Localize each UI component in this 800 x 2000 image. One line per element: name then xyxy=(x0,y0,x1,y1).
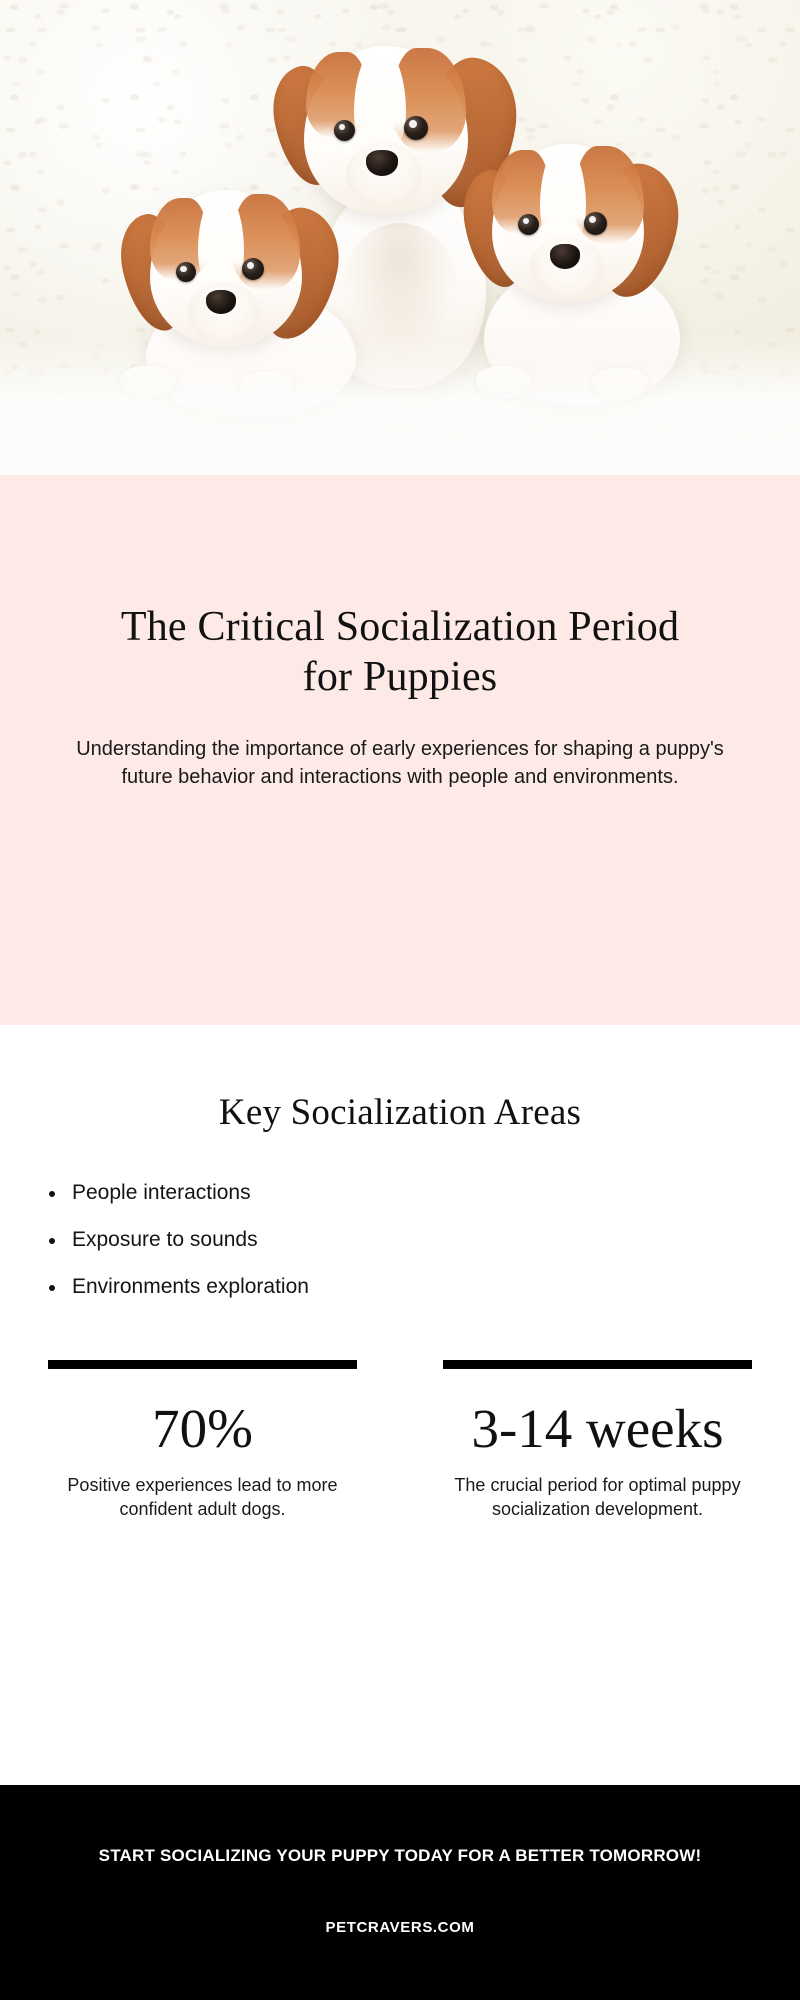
page-title-line-1: The Critical Socialization Period xyxy=(121,604,679,650)
puppy-right-eye-right xyxy=(584,212,607,235)
title-section: The Critical Socialization Period for Pu… xyxy=(0,475,800,1025)
puppy-right-head xyxy=(492,144,644,302)
list-item: Environments exploration xyxy=(72,1276,800,1297)
stat-description: The crucial period for optimal puppy soc… xyxy=(443,1474,752,1522)
list-item-label: Environments exploration xyxy=(72,1275,309,1298)
socialization-areas-list: People interactions Exposure to sounds E… xyxy=(0,1182,800,1297)
bullet-icon xyxy=(49,1285,55,1291)
page-title-line-2: for Puppies xyxy=(303,654,498,700)
infographic-page: The Critical Socialization Period for Pu… xyxy=(0,0,800,2000)
hero-photo xyxy=(0,0,800,475)
stat-description: Positive experiences lead to more confid… xyxy=(48,1474,357,1522)
list-item-label: People interactions xyxy=(72,1181,251,1204)
stat-value: 3-14 weeks xyxy=(443,1399,752,1458)
stat-card-1: 70% Positive experiences lead to more co… xyxy=(48,1360,357,1522)
page-title: The Critical Socialization Period for Pu… xyxy=(121,603,679,702)
puppy-center-eye-right xyxy=(404,116,428,140)
puppy-left-blaze xyxy=(198,190,244,292)
section-heading: Key Socialization Areas xyxy=(0,1091,800,1134)
stat-value: 70% xyxy=(48,1399,357,1458)
puppy-left-eye-right xyxy=(242,258,264,280)
list-item: Exposure to sounds xyxy=(72,1229,800,1250)
list-item-label: Exposure to sounds xyxy=(72,1228,258,1251)
stats-row: 70% Positive experiences lead to more co… xyxy=(0,1360,800,1522)
puppy-right-blaze xyxy=(540,144,586,248)
stat-divider xyxy=(48,1360,357,1369)
puppy-left-eye-left xyxy=(176,262,196,282)
website-url[interactable]: PETCRAVERS.COM xyxy=(326,1919,475,1936)
puppy-right-eye-left xyxy=(518,214,539,235)
footer-section: START SOCIALIZING YOUR PUPPY TODAY FOR A… xyxy=(0,1785,800,2000)
bullet-icon xyxy=(49,1238,55,1244)
hero-foreground-blanket xyxy=(0,335,800,475)
call-to-action-text: START SOCIALIZING YOUR PUPPY TODAY FOR A… xyxy=(99,1843,702,1869)
puppy-center-blaze xyxy=(354,46,406,156)
content-section: Key Socialization Areas People interacti… xyxy=(0,1025,800,1785)
puppy-center-eye-left xyxy=(334,120,355,141)
stat-divider xyxy=(443,1360,752,1369)
puppy-left-head xyxy=(150,190,302,346)
list-item: People interactions xyxy=(72,1182,800,1203)
stat-card-2: 3-14 weeks The crucial period for optima… xyxy=(443,1360,752,1522)
page-subtitle: Understanding the importance of early ex… xyxy=(50,736,750,791)
bullet-icon xyxy=(49,1191,55,1197)
